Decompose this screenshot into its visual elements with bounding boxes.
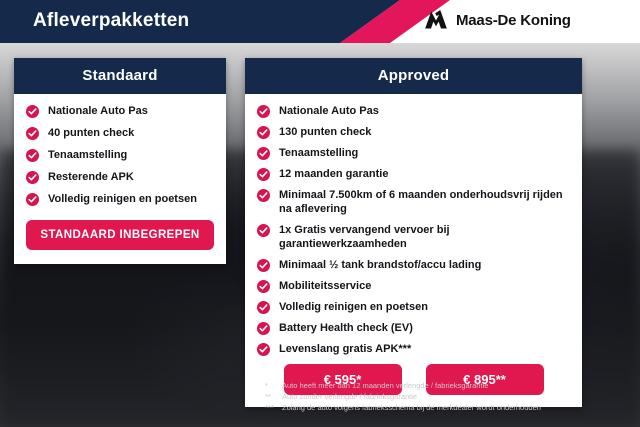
footnote-row: ***Zolang de auto volgens fabrieksschema… — [265, 402, 625, 413]
feature-label: Battery Health check (EV) — [279, 322, 413, 334]
check-circle-icon — [257, 168, 270, 181]
feature-label: Levenslang gratis APK*** — [279, 343, 411, 355]
feature-item: Battery Health check (EV) — [257, 321, 570, 335]
feature-item: 130 punten check — [257, 125, 570, 139]
check-circle-icon — [257, 105, 270, 118]
footnote-row: *Auto heeft meer dan 12 maanden verlengd… — [265, 380, 625, 391]
feature-item: Volledig reinigen en poetsen — [257, 300, 570, 314]
package-card-standaard: Standaard Nationale Auto Pas40 punten ch… — [14, 58, 226, 264]
feature-item: Tenaamstelling — [26, 148, 214, 162]
package-card-approved: Approved Nationale Auto Pas130 punten ch… — [245, 58, 582, 407]
feature-list-approved: Nationale Auto Pas130 punten checkTenaam… — [257, 104, 570, 356]
feature-item: Nationale Auto Pas — [257, 104, 570, 118]
check-circle-icon — [257, 280, 270, 293]
feature-item: Resterende APK — [26, 170, 214, 184]
check-circle-icon — [257, 322, 270, 335]
check-circle-icon — [26, 105, 39, 118]
card-title-approved: Approved — [245, 58, 582, 94]
feature-label: 130 punten check — [279, 126, 371, 138]
standaard-inbegrepen-button[interactable]: STANDAARD INBEGREPEN — [26, 220, 214, 250]
feature-label: Nationale Auto Pas — [279, 105, 379, 117]
footnote-marker: * — [265, 380, 282, 391]
check-circle-icon — [257, 147, 270, 160]
check-circle-icon — [257, 301, 270, 314]
card-title-standaard: Standaard — [14, 58, 226, 94]
feature-item: 12 maanden garantie — [257, 167, 570, 181]
maas-de-koning-m-logo-icon — [424, 9, 448, 31]
footnote-text: Auto heeft meer dan 12 maanden verlengde… — [282, 380, 488, 391]
feature-label: Minimaal 7.500km of 6 maanden onderhouds… — [279, 189, 563, 215]
footnote-marker: *** — [265, 402, 282, 413]
check-circle-icon — [257, 343, 270, 356]
footnote-marker: ** — [265, 391, 282, 402]
card-body-approved: Nationale Auto Pas130 punten checkTenaam… — [245, 94, 582, 407]
feature-label: Tenaamstelling — [48, 149, 127, 161]
check-circle-icon — [26, 193, 39, 206]
feature-label: Resterende APK — [48, 171, 134, 183]
feature-item: 1x Gratis vervangend vervoer bij garanti… — [257, 223, 570, 251]
feature-label: Mobiliteitsservice — [279, 280, 371, 292]
feature-label: Minimaal ½ tank brandstof/accu lading — [279, 259, 481, 271]
feature-item: Levenslang gratis APK*** — [257, 342, 570, 356]
feature-item: Tenaamstelling — [257, 146, 570, 160]
check-circle-icon — [26, 171, 39, 184]
check-circle-icon — [26, 149, 39, 162]
footnote-text: Auto zonder verlengde / fabrieksgarantie — [282, 391, 417, 402]
brand-logo: Maas-De Koning — [424, 9, 571, 31]
feature-label: 40 punten check — [48, 127, 134, 139]
feature-item: Mobiliteitsservice — [257, 279, 570, 293]
check-circle-icon — [257, 224, 270, 237]
slide-root: Afleverpakketten Maas-De Koning Standaar… — [0, 0, 640, 427]
check-circle-icon — [26, 127, 39, 140]
feature-label: Tenaamstelling — [279, 147, 358, 159]
footnotes: *Auto heeft meer dan 12 maanden verlengd… — [265, 380, 625, 413]
footnote-row: **Auto zonder verlengde / fabrieksgarant… — [265, 391, 625, 402]
feature-label: Nationale Auto Pas — [48, 105, 148, 117]
feature-item: Volledig reinigen en poetsen — [26, 192, 214, 206]
page-title: Afleverpakketten — [33, 10, 189, 32]
check-circle-icon — [257, 259, 270, 272]
feature-item: Minimaal ½ tank brandstof/accu lading — [257, 258, 570, 272]
card-body-standaard: Nationale Auto Pas40 punten checkTenaams… — [14, 94, 226, 264]
feature-item: Minimaal 7.500km of 6 maanden onderhouds… — [257, 188, 570, 216]
feature-item: 40 punten check — [26, 126, 214, 140]
feature-label: Volledig reinigen en poetsen — [48, 193, 197, 205]
brand-name: Maas-De Koning — [456, 12, 571, 29]
check-circle-icon — [257, 126, 270, 139]
feature-label: 1x Gratis vervangend vervoer bij garanti… — [279, 224, 450, 250]
feature-label: 12 maanden garantie — [279, 168, 388, 180]
feature-list-standaard: Nationale Auto Pas40 punten checkTenaams… — [26, 104, 214, 206]
feature-item: Nationale Auto Pas — [26, 104, 214, 118]
header-bar: Afleverpakketten Maas-De Koning — [0, 0, 640, 43]
footnote-text: Zolang de auto volgens fabrieksschema bi… — [282, 402, 541, 413]
feature-label: Volledig reinigen en poetsen — [279, 301, 428, 313]
check-circle-icon — [257, 189, 270, 202]
